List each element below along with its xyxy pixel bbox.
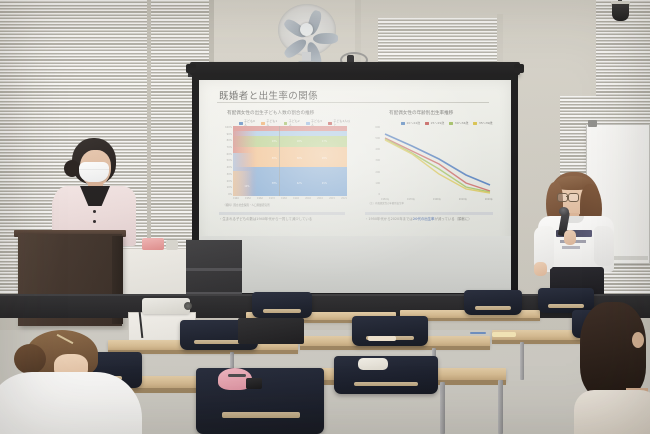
x-tick: 1972 <box>269 197 275 200</box>
whiteboard-clip <box>588 120 597 127</box>
x-tick: 2010年 <box>459 197 467 201</box>
area-taper-left-3 <box>233 171 256 196</box>
x-tick: 1950年 <box>381 197 389 201</box>
x-tick: 1962 <box>257 197 263 200</box>
footnote-bar-left <box>219 212 345 215</box>
audience-right-ear <box>632 332 644 348</box>
legend-swatch <box>473 122 477 125</box>
chair <box>464 290 522 315</box>
legend-swatch <box>306 122 310 125</box>
data-label: 18% <box>297 140 302 143</box>
presenter-left-hair-bun <box>64 160 80 177</box>
y-tick: 90% <box>221 133 232 136</box>
chair-handle-slot <box>263 309 301 313</box>
notebook-on-desk <box>368 336 396 341</box>
chart-left-source-note: （資料）国立社会保障・人口問題研究所 <box>223 203 270 207</box>
audience-member-front-left <box>0 330 128 434</box>
data-label: 30% <box>297 157 302 160</box>
ceiling-camera-icon <box>612 4 629 21</box>
chart-left-stacked-area: 有配偶女性の出生子ども人数の割合の推移 子ども0人 子ども1人 子ども2人 子ど… <box>219 110 351 208</box>
glasses-on-desk <box>228 374 246 377</box>
white-item-on-table <box>166 240 178 250</box>
footnote-bar-right <box>365 212 493 215</box>
data-label: 45% <box>322 182 327 185</box>
wall-fan-icon <box>278 4 340 62</box>
x-tick: 2015 <box>329 197 335 200</box>
y-tick: 40% <box>221 166 232 169</box>
x-tick: 1990年 <box>433 197 441 201</box>
chart-right-title: 有配偶女性の年齢別出生率推移 <box>389 110 453 116</box>
projector <box>142 298 190 314</box>
data-label: 28% <box>322 157 327 160</box>
chart-right-x-axis: 1950年 1970年 1990年 2010年 2020年 <box>381 197 493 201</box>
tshirt-graphic-line-3 <box>562 246 580 249</box>
footnote-prefix: ・1950年代から2020年までは <box>365 217 413 221</box>
pen-on-desk <box>470 332 486 334</box>
y-tick: 600 <box>367 126 380 129</box>
legend-item: 20〜24歳 <box>401 121 420 125</box>
glasses-lens-right <box>568 193 579 202</box>
audience-left-hair-clip-bundle <box>14 344 46 374</box>
face-mask-fold <box>79 169 109 170</box>
y-tick: 20% <box>221 180 232 183</box>
projection-screen-lower-blank <box>199 236 511 294</box>
legend-swatch <box>425 122 429 125</box>
desk-edge <box>300 346 490 350</box>
series-line-20-24 <box>385 134 490 185</box>
audience-right-top <box>574 390 650 434</box>
chart-right-y-axis: 600 500 400 300 200 100 0 <box>367 126 380 196</box>
blouse-button <box>93 210 96 213</box>
legend-item: 30〜34歳 <box>449 121 468 125</box>
phone-on-desk <box>246 378 262 389</box>
y-tick: 100% <box>221 126 232 129</box>
audience-left-white-top <box>0 372 142 434</box>
data-label: 17% <box>322 140 327 143</box>
legend-swatch <box>284 122 288 125</box>
legend-label: 35〜39歳 <box>479 121 493 125</box>
presenter-with-microphone <box>532 168 618 308</box>
footnote-suffix: が減っている（顕著に） <box>434 217 471 221</box>
slide-title-underline <box>217 102 489 103</box>
chart-right-legend: 20〜24歳 25〜29歳 30〜34歳 35〜39歳 <box>401 121 493 125</box>
chair-handle-slot <box>194 340 244 344</box>
y-tick: 60% <box>221 153 232 156</box>
desk-leg <box>498 380 503 434</box>
glasses-icon <box>557 193 568 202</box>
y-tick: 0 <box>367 193 380 196</box>
y-tick: 70% <box>221 146 232 149</box>
projector-lens <box>184 302 192 310</box>
y-tick: 500 <box>367 137 380 140</box>
screen-case-cap-left <box>186 64 196 73</box>
x-tick: 2021 <box>341 197 347 200</box>
desk-leg <box>520 342 524 380</box>
legend-swatch <box>261 122 265 125</box>
chart-left-x-axis: 1940 1952 1962 1972 1982 1992 2002 2010 … <box>233 197 347 200</box>
classroom-presentation-photo: 既婚者と出生率の関係 有配偶女性の出生子ども人数の割合の推移 子ども0人 子ども… <box>0 0 650 434</box>
y-tick: 10% <box>221 186 232 189</box>
audience-right-hair <box>580 302 646 398</box>
x-tick: 1992 <box>293 197 299 200</box>
y-tick: 80% <box>221 139 232 142</box>
y-tick: 400 <box>367 148 380 151</box>
legend-swatch <box>401 122 405 125</box>
data-label: 19% <box>244 185 249 188</box>
presenter-right-hand-holding-mic <box>564 230 576 245</box>
chair-handle-slot <box>354 382 418 386</box>
chart-right-plot-area <box>381 126 493 196</box>
presenter-right-arm-right <box>594 226 614 266</box>
chair-handle-slot <box>475 306 511 310</box>
data-label: 42% <box>297 182 302 185</box>
blouse-button <box>93 220 96 223</box>
y-tick: 300 <box>367 159 380 162</box>
chart-right-line: 有配偶女性の年齢別出生率推移 20〜24歳 25〜29歳 30〜34歳 35〜3… <box>365 110 499 208</box>
pink-item-on-table <box>142 238 164 250</box>
glasses-bridge <box>566 196 569 197</box>
white-pouch-on-desk <box>358 358 388 370</box>
y-tick: 50% <box>221 159 232 162</box>
chair-handle-slot <box>548 304 584 308</box>
presenter-right-hand-left <box>534 262 547 276</box>
legend-swatch <box>449 122 453 125</box>
x-tick: 1952 <box>245 197 251 200</box>
x-tick: 2010 <box>317 197 323 200</box>
slide-title: 既婚者と出生率の関係 <box>219 88 318 102</box>
cabinet-shelf <box>186 268 242 271</box>
data-label: 30% <box>272 157 277 160</box>
chart-right-svg <box>381 126 493 196</box>
y-tick: 200 <box>367 171 380 174</box>
x-tick: 2002 <box>305 197 311 200</box>
y-tick: 100 <box>367 182 380 185</box>
chair <box>252 292 312 318</box>
screen-case-cap-right <box>514 64 524 73</box>
face-mask-icon <box>79 162 109 182</box>
legend-label: 25〜29歳 <box>431 121 445 125</box>
y-tick: 0% <box>221 193 232 196</box>
x-tick: 1970年 <box>407 197 415 201</box>
laptop-on-desk <box>238 318 304 344</box>
desk-leg <box>440 382 445 434</box>
footnote-text-left: ・生まれる子どもの数は1940年代から一貫して減少している <box>219 217 347 222</box>
paper-on-desk <box>492 332 516 337</box>
legend-label: 20〜24歳 <box>407 121 421 125</box>
legend-swatch <box>239 122 243 125</box>
footnote-highlight: 20代の出生率 <box>413 217 435 221</box>
chart-left-marker-line <box>279 126 280 196</box>
x-tick: 1982 <box>281 197 287 200</box>
chart-left-y-axis: 100% 90% 80% 70% 60% 50% 40% 30% 20% 10%… <box>221 126 232 196</box>
audience-member-front-right <box>580 292 650 434</box>
chair <box>352 316 428 346</box>
legend-item: 25〜29歳 <box>425 121 444 125</box>
footnote-text-right: ・1950年代から2020年までは20代の出生率が減っている（顕著に） <box>365 217 497 222</box>
legend-label: 30〜34歳 <box>455 121 469 125</box>
legend-item: 35〜39歳 <box>473 121 492 125</box>
x-tick: 2020年 <box>485 197 493 201</box>
chart-left-title: 有配偶女性の出生子ども人数の割合の推移 <box>227 110 314 116</box>
series-line-25-29 <box>385 138 490 191</box>
chair-handle-slot <box>222 412 300 418</box>
presentation-slide: 既婚者と出生率の関係 有配偶女性の出生子ども人数の割合の推移 子ども0人 子ども… <box>205 84 505 234</box>
series-line-30-34 <box>385 139 490 192</box>
y-tick: 30% <box>221 173 232 176</box>
chart-right-source-note: （注）有配偶女性の年齢別出生率 <box>368 202 496 206</box>
data-label: 19% <box>272 140 277 143</box>
chart-left-plot-area: 19% 38% 42% 45% 30% 30% 28% 19% 18% 17% <box>233 126 347 196</box>
legend-swatch <box>328 122 332 125</box>
x-tick: 1940 <box>233 197 239 200</box>
data-label: 38% <box>272 182 277 185</box>
